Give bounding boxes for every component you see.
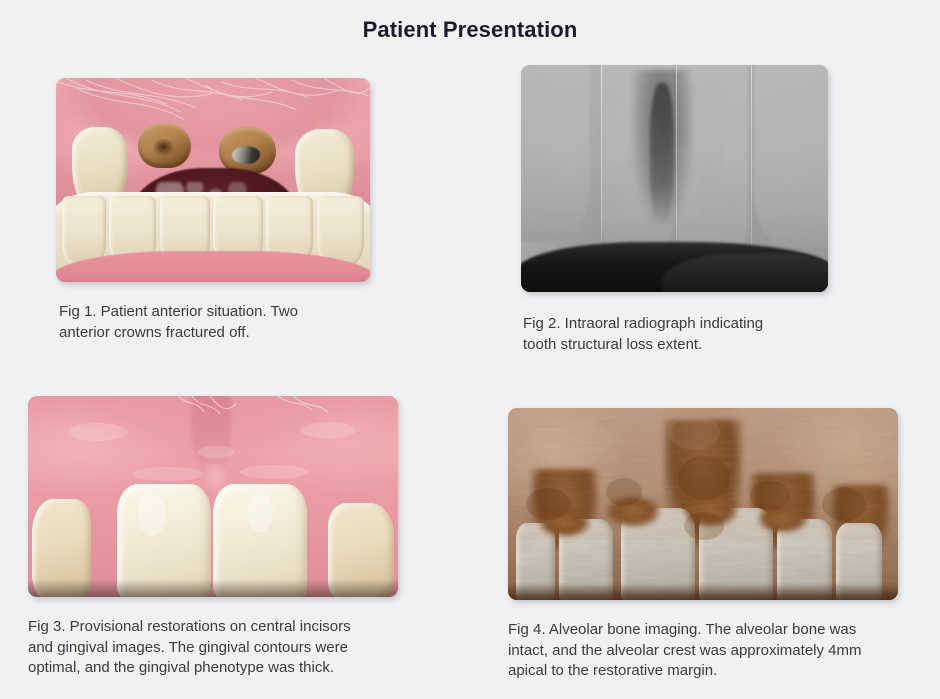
lower-shadow	[508, 583, 898, 600]
figure-3-caption: Fig 3. Provisional restorations on centr…	[28, 617, 398, 679]
intraoral-periapical-radiograph[interactable]	[521, 65, 828, 292]
gingiva-highlight-overlay	[28, 396, 398, 597]
lower-shadow	[28, 579, 398, 597]
figure-2: Fig 2. Intraoral radiograph indicating t…	[521, 65, 828, 355]
page-title: Patient Presentation	[0, 17, 940, 43]
figure-1-caption: Fig 1. Patient anterior situation. Two a…	[59, 302, 370, 343]
figure-4-caption: Fig 4. Alveolar bone imaging. The alveol…	[508, 620, 898, 682]
figure-4: Fig 4. Alveolar bone imaging. The alveol…	[508, 408, 898, 682]
provisional-restorations-photograph[interactable]	[28, 396, 398, 597]
figure-1: Fig 1. Patient anterior situation. Two a…	[56, 78, 370, 343]
intraoral-anterior-photograph[interactable]	[56, 78, 370, 282]
figure-2-caption: Fig 2. Intraoral radiograph indicating t…	[523, 314, 828, 355]
figure-3: Fig 3. Provisional restorations on centr…	[28, 396, 398, 679]
alveolar-bone-cbct-rendering[interactable]	[508, 408, 898, 600]
retractor-threads	[56, 78, 370, 147]
radiograph-noise-texture	[521, 65, 828, 292]
lower-gingiva	[56, 251, 370, 282]
bone-texture-overlay	[508, 408, 898, 600]
